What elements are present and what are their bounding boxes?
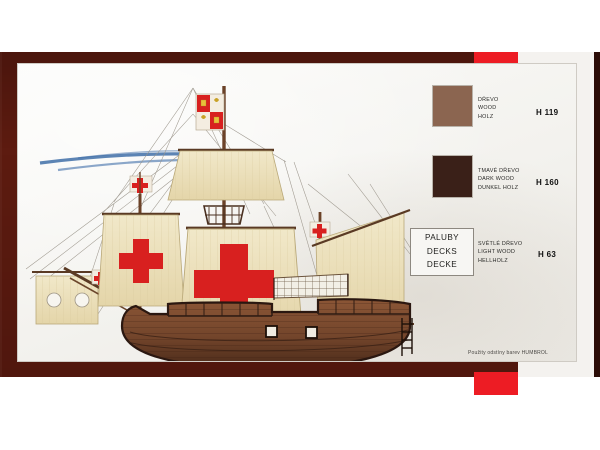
legend-lightwood-en: LIGHT WOOD: [478, 248, 522, 256]
legend-wood-de: HOLZ: [478, 113, 498, 121]
poster-page: DŘEVO WOOD HOLZ H 119 TMAVÉ DŘEVO DARK W…: [0, 0, 600, 450]
legend-label-light-wood: SVĚTLÉ DŘEVO LIGHT WOOD HELLHOLZ: [478, 240, 522, 265]
legend-code-light-wood: H 63: [538, 250, 556, 259]
legend-lightwood-de: HELLHOLZ: [478, 257, 522, 265]
pennant-blue: [40, 151, 194, 170]
legend-darkwood-en: DARK WOOD: [478, 175, 520, 183]
legend-label-wood: DŘEVO WOOD HOLZ: [478, 96, 498, 121]
crows-nest: [204, 206, 244, 224]
decks-label-de: DECKE: [411, 258, 473, 272]
sail-main-topsail: [168, 150, 284, 200]
accent-block-bottom: [474, 372, 518, 395]
ship-hull: [122, 299, 412, 361]
legend-wood-cs: DŘEVO: [478, 96, 498, 104]
decks-label-en: DECKS: [411, 245, 473, 259]
swatch-wood: [433, 86, 472, 126]
legend-darkwood-de: DUNKEL HOLZ: [478, 184, 520, 192]
right-edge-strip: [594, 52, 600, 377]
flag-castile-leon: [196, 94, 224, 130]
sail-fore-course: [98, 214, 184, 306]
flag-cross-pennant-mizzen: [310, 222, 330, 238]
flag-cross-pennant-fore: [130, 172, 152, 196]
deck-grating: [274, 274, 348, 298]
legend-code-wood: H 119: [536, 108, 558, 117]
legend-darkwood-cs: TMAVÉ DŘEVO: [478, 167, 520, 175]
legend-wood-en: WOOD: [478, 104, 498, 112]
legend-code-dark-wood: H 160: [536, 178, 559, 187]
legend-lightwood-cs: SVĚTLÉ DŘEVO: [478, 240, 522, 248]
humbrol-note: Použity odstíny barev HUMBROL: [468, 350, 548, 356]
decks-label-cs: PALUBY: [411, 231, 473, 245]
swatch-dark-wood: [433, 156, 472, 197]
ship-illustration: [18, 64, 438, 361]
legend-label-dark-wood: TMAVÉ DŘEVO DARK WOOD DUNKEL HOLZ: [478, 167, 520, 192]
decks-box: PALUBY DECKS DECKE: [410, 228, 474, 276]
